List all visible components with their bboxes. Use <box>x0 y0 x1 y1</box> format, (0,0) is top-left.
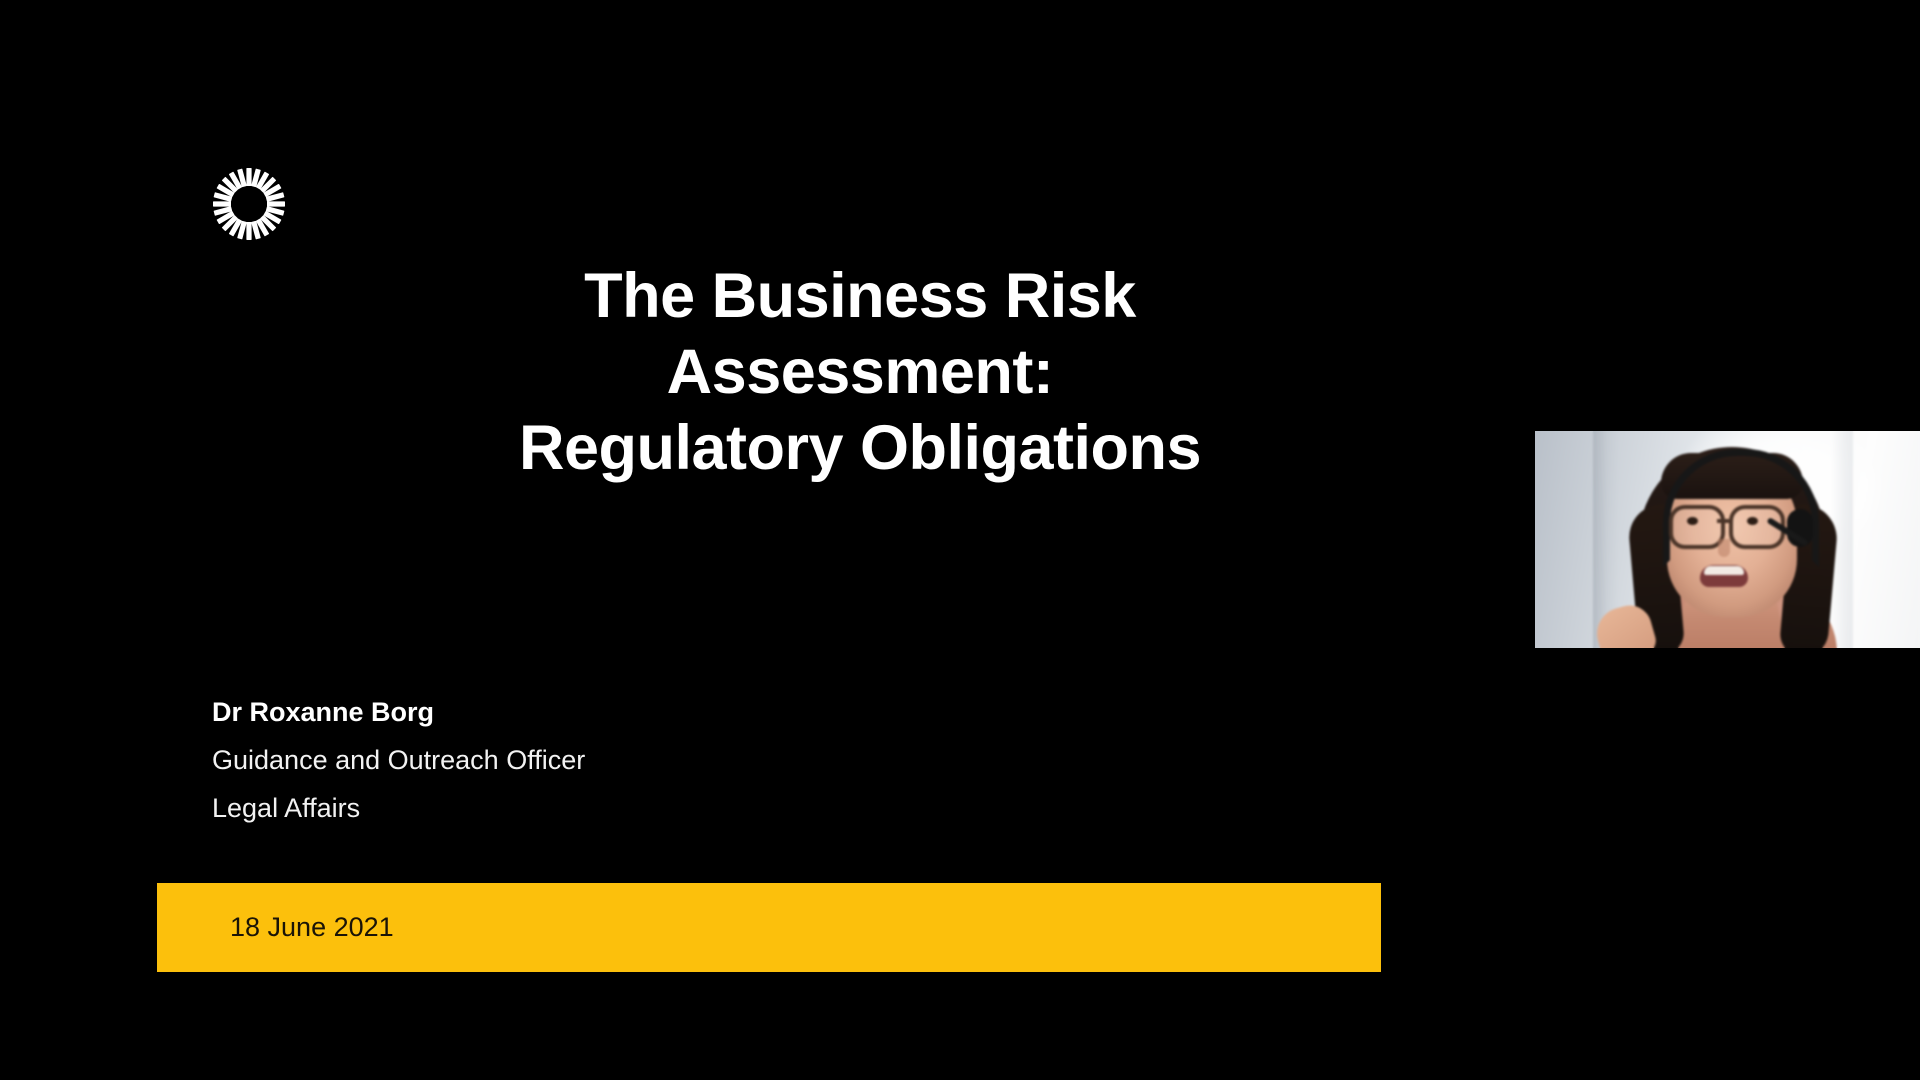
sunburst-logo-icon <box>211 166 287 242</box>
slide-title-line-1: The Business Risk <box>160 258 1560 334</box>
webcam-teeth <box>1704 566 1744 575</box>
presenter-name: Dr Roxanne Borg <box>212 688 1112 736</box>
date-banner: 18 June 2021 <box>157 883 1381 972</box>
presenter-video-thumbnail[interactable] <box>1535 431 1920 648</box>
presentation-screen-share: The Business Risk Assessment: Regulatory… <box>0 0 1920 1080</box>
slide-title: The Business Risk Assessment: Regulatory… <box>160 258 1560 486</box>
webcam-eye-left <box>1687 517 1698 525</box>
webcam-eye-right <box>1747 517 1758 525</box>
presenter-role: Guidance and Outreach Officer <box>212 736 1112 784</box>
webcam-nose <box>1718 539 1730 557</box>
presenter-department: Legal Affairs <box>212 784 1112 832</box>
slide-title-line-2: Assessment: <box>160 334 1560 410</box>
presenter-byline: Dr Roxanne Borg Guidance and Outreach Of… <box>212 688 1112 832</box>
date-text: 18 June 2021 <box>230 883 394 972</box>
webcam-eyeglass-left <box>1669 505 1725 549</box>
webcam-eyeglass-bridge <box>1717 519 1729 523</box>
slide-title-line-3: Regulatory Obligations <box>160 410 1560 486</box>
